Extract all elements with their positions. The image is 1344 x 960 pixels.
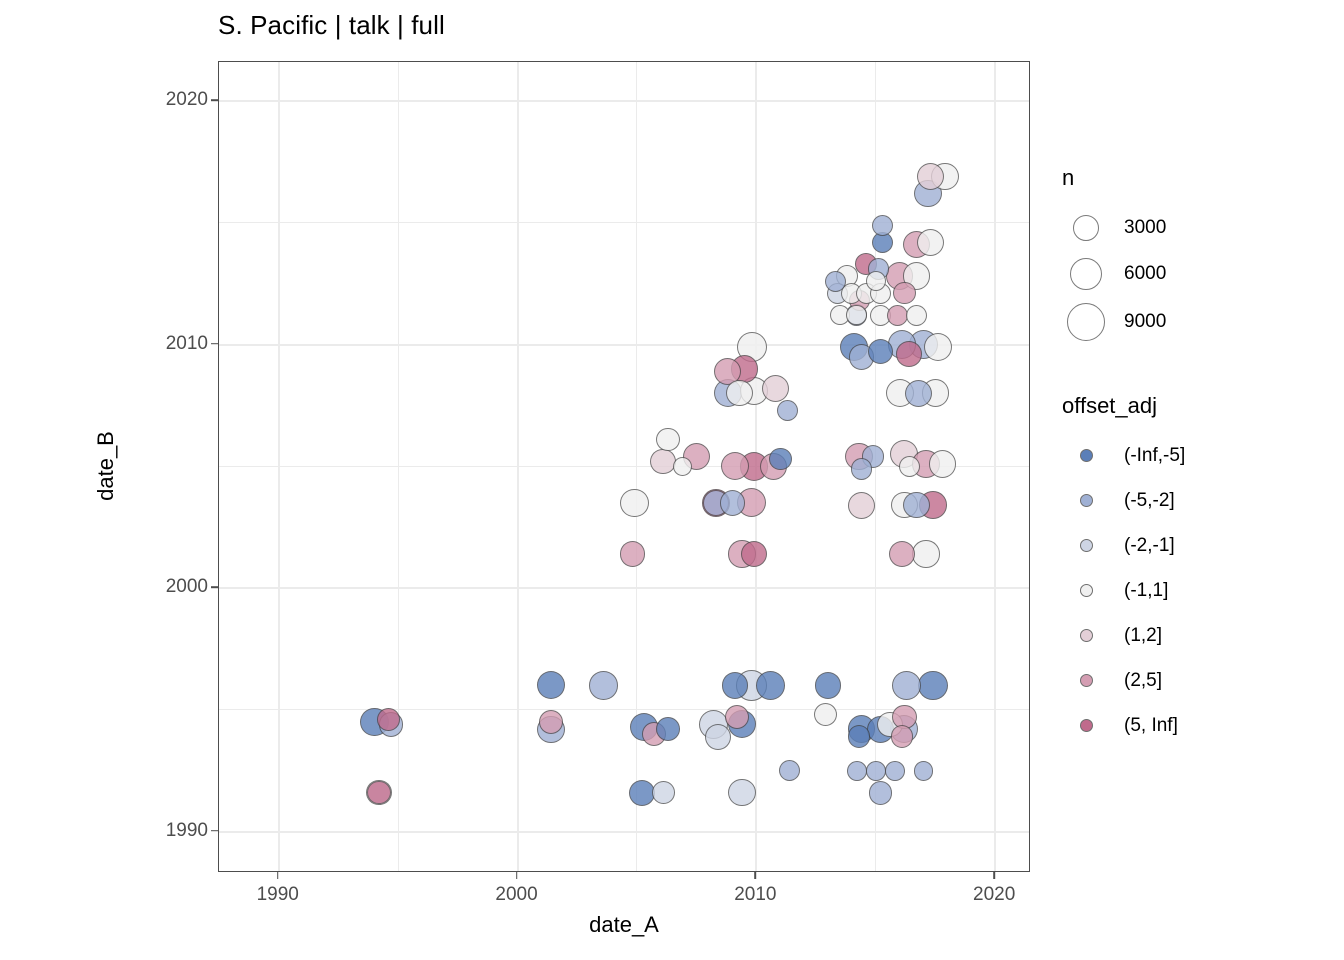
data-point (896, 341, 922, 367)
color-legend-item[interactable]: (1,2] (1062, 613, 1332, 658)
color-legend-item[interactable]: (2,5] (1062, 658, 1332, 703)
data-point (891, 725, 914, 748)
page-title: S. Pacific | talk | full (218, 10, 445, 41)
color-legend-key (1062, 494, 1110, 507)
data-point (589, 671, 617, 699)
y-tick-label: 2010 (120, 333, 208, 355)
data-point (889, 541, 916, 568)
data-point (726, 380, 752, 406)
chart-root: S. Pacific | talk | full 199020002010202… (0, 0, 1344, 960)
data-point (673, 457, 692, 476)
legend-area: n 300060009000 offset_adj (-Inf,-5](-5,-… (1062, 165, 1332, 748)
data-point (899, 456, 920, 477)
color-legend-item[interactable]: (-5,-2] (1062, 478, 1332, 523)
data-point (869, 781, 893, 805)
x-tick-mark (516, 872, 518, 879)
data-point (885, 761, 905, 781)
x-tick-mark (277, 872, 279, 879)
size-legend-key (1062, 215, 1110, 241)
y-tick-mark (211, 830, 218, 832)
size-legend-key (1062, 303, 1110, 341)
data-point (777, 400, 798, 421)
gridline-major-horizontal (219, 100, 1029, 102)
data-point (851, 458, 873, 480)
color-legend-item[interactable]: (-1,1] (1062, 568, 1332, 613)
data-point (650, 449, 676, 475)
data-point (887, 305, 908, 326)
color-legend-label: (5, Inf] (1110, 715, 1178, 737)
gridline-major-vertical (994, 62, 996, 871)
x-tick-label: 2020 (973, 884, 1015, 906)
data-point (918, 671, 947, 700)
gridline-major-vertical (517, 62, 519, 871)
dot-icon (1080, 449, 1093, 462)
size-legend-label: 9000 (1110, 311, 1166, 333)
data-point (769, 448, 792, 471)
data-point (892, 671, 921, 700)
x-tick-label: 2000 (495, 884, 537, 906)
data-point (929, 450, 957, 478)
x-tick-mark (993, 872, 995, 879)
dot-icon (1080, 629, 1093, 642)
plot-panel (218, 61, 1030, 872)
y-axis-label: date_B (93, 431, 119, 501)
data-point (537, 671, 565, 699)
size-legend-item[interactable]: 6000 (1062, 251, 1332, 297)
data-point (756, 671, 785, 700)
gridline-major-horizontal (219, 831, 1029, 833)
gridline-major-horizontal (219, 587, 1029, 589)
gridline-major-vertical (278, 62, 280, 871)
gridline-minor-vertical (398, 62, 399, 871)
color-legend-label: (-2,-1] (1110, 535, 1175, 557)
size-legend: n 300060009000 (1062, 165, 1332, 347)
data-point (917, 229, 944, 256)
color-legend-key (1062, 674, 1110, 687)
color-legend: offset_adj (-Inf,-5](-5,-2](-2,-1](-1,1]… (1062, 393, 1332, 748)
data-point (656, 717, 680, 741)
color-legend-key (1062, 719, 1110, 732)
size-legend-key (1062, 258, 1110, 290)
dot-icon (1080, 584, 1093, 597)
size-legend-rows: 300060009000 (1062, 205, 1332, 347)
data-point (866, 761, 886, 781)
data-point (903, 492, 929, 518)
y-tick-label: 1990 (120, 820, 208, 842)
data-point (825, 271, 846, 292)
size-legend-label: 6000 (1110, 263, 1166, 285)
color-legend-item[interactable]: (5, Inf] (1062, 703, 1332, 748)
color-legend-label: (-1,1] (1110, 580, 1168, 602)
data-point (868, 339, 893, 364)
data-point (705, 724, 731, 750)
size-legend-label: 3000 (1110, 217, 1166, 239)
data-point (539, 710, 563, 734)
data-point (914, 761, 934, 781)
data-point (912, 540, 939, 567)
data-point (779, 760, 800, 781)
data-point (367, 781, 390, 804)
data-point (762, 375, 790, 403)
color-legend-key (1062, 449, 1110, 462)
data-point (815, 672, 841, 698)
color-legend-label: (-5,-2] (1110, 490, 1175, 512)
color-legend-label: (1,2] (1110, 625, 1162, 647)
gridline-minor-horizontal (219, 222, 1029, 223)
circle-icon (1070, 258, 1102, 290)
data-point (814, 703, 837, 726)
data-point (656, 428, 679, 451)
y-tick-mark (211, 99, 218, 101)
x-tick-label: 2010 (734, 884, 776, 906)
color-legend-label: (-Inf,-5] (1110, 445, 1185, 467)
data-point (377, 708, 400, 731)
dot-icon (1080, 674, 1093, 687)
data-point (847, 761, 867, 781)
color-legend-item[interactable]: (-2,-1] (1062, 523, 1332, 568)
data-point (872, 215, 893, 236)
circle-icon (1073, 215, 1099, 241)
y-tick-mark (211, 343, 218, 345)
data-point (893, 282, 915, 304)
color-legend-key (1062, 629, 1110, 642)
gridline-minor-vertical (636, 62, 637, 871)
data-point (720, 490, 746, 516)
color-legend-label: (2,5] (1110, 670, 1162, 692)
y-tick-mark (211, 586, 218, 588)
data-point (722, 672, 748, 698)
color-legend-rows: (-Inf,-5](-5,-2](-2,-1](-1,1](1,2](2,5](… (1062, 433, 1332, 748)
y-tick-label: 2000 (120, 576, 208, 598)
x-tick-label: 1990 (257, 884, 299, 906)
size-legend-item[interactable]: 3000 (1062, 205, 1332, 251)
data-point (741, 541, 768, 568)
data-point (652, 781, 675, 804)
data-point (728, 779, 755, 806)
data-point (620, 489, 648, 517)
x-axis-label: date_A (589, 912, 659, 938)
circle-icon (1067, 303, 1105, 341)
data-point (906, 305, 927, 326)
data-point (905, 380, 932, 407)
data-point (924, 333, 952, 361)
size-legend-item[interactable]: 9000 (1062, 297, 1332, 347)
data-point (629, 780, 655, 806)
dot-icon (1080, 494, 1093, 507)
data-point (848, 725, 871, 748)
data-point (848, 492, 875, 519)
color-legend-key (1062, 539, 1110, 552)
data-point (721, 452, 749, 480)
dot-icon (1080, 539, 1093, 552)
color-legend-title: offset_adj (1062, 393, 1332, 419)
color-legend-item[interactable]: (-Inf,-5] (1062, 433, 1332, 478)
y-tick-label: 2020 (120, 89, 208, 111)
x-tick-mark (755, 872, 757, 879)
size-legend-title: n (1062, 165, 1332, 191)
dot-icon (1080, 719, 1093, 732)
color-legend-key (1062, 584, 1110, 597)
data-point (620, 541, 645, 566)
